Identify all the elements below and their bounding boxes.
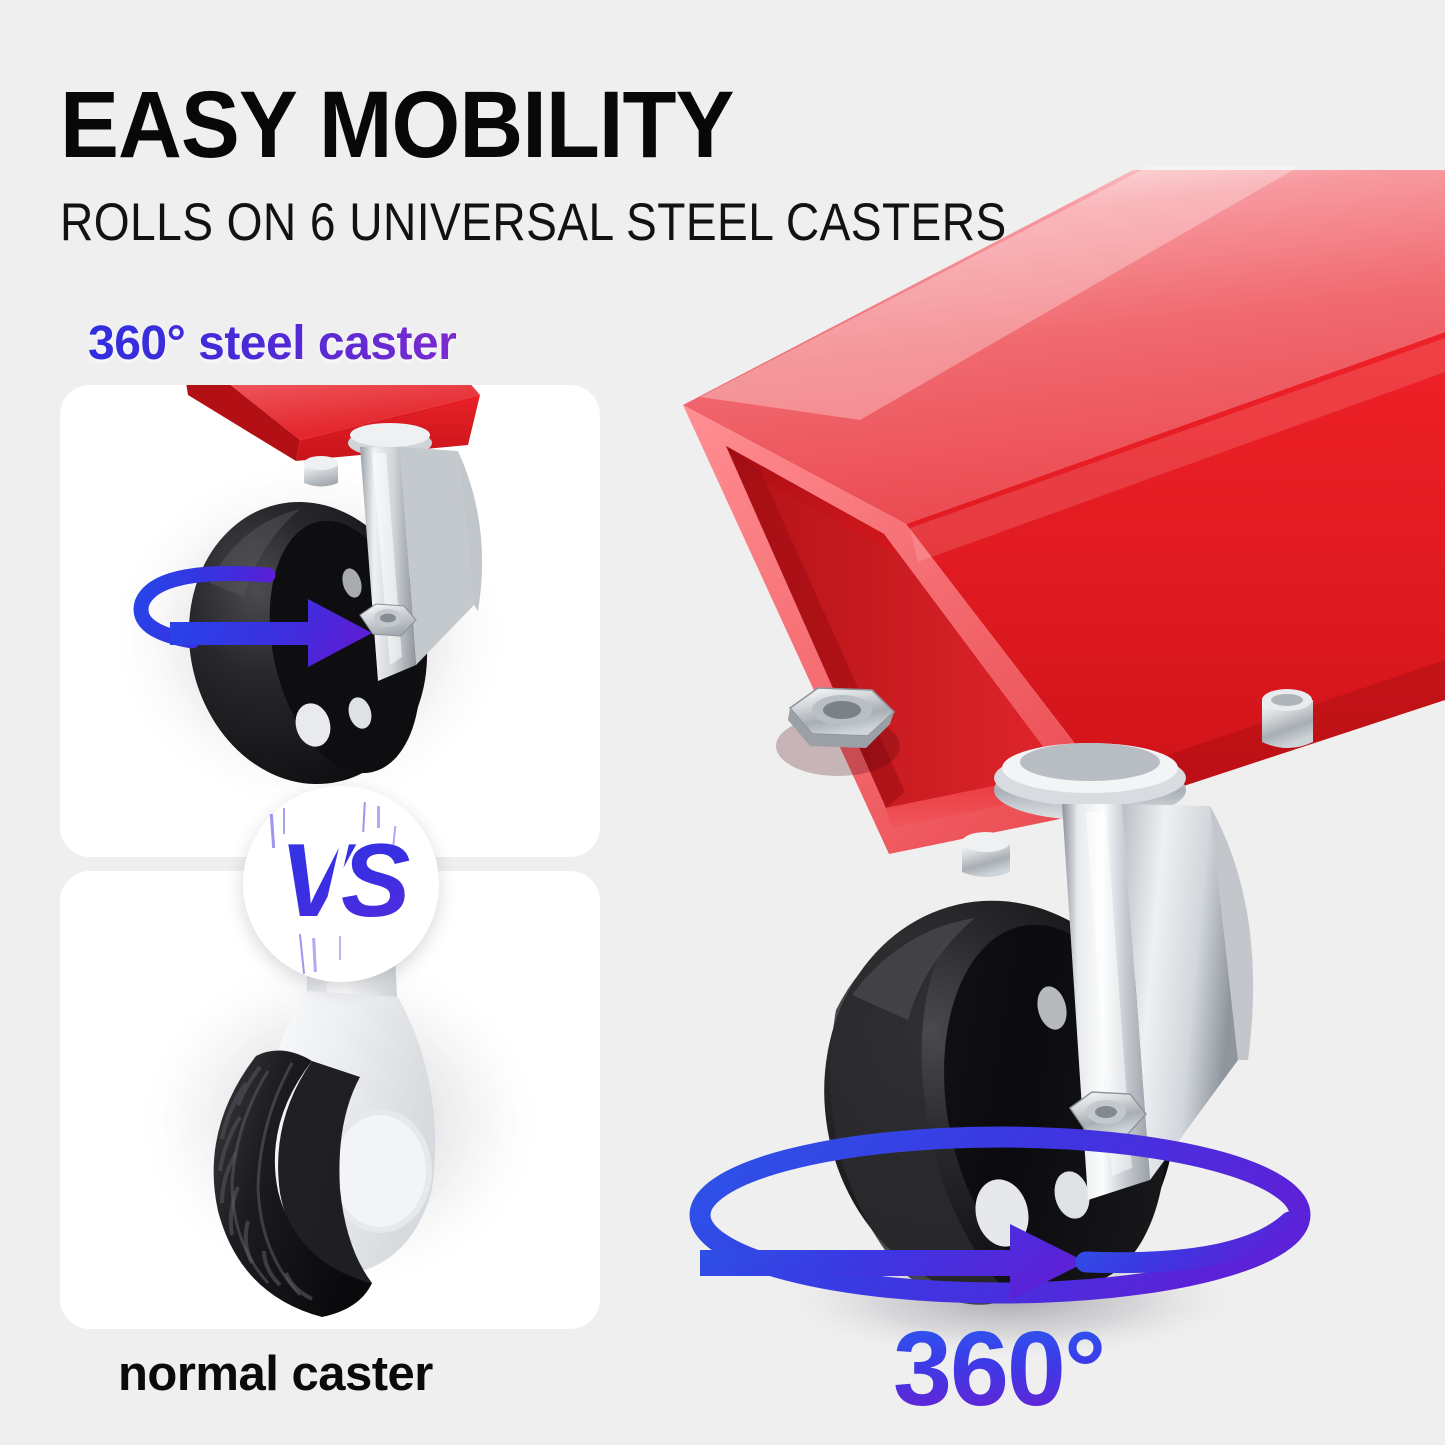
- hero-360-caption: 360°: [893, 1316, 1104, 1422]
- chrome-stud-icon: [1262, 689, 1313, 748]
- axle-stud-icon: [962, 832, 1010, 877]
- vs-streak: [339, 936, 341, 960]
- vs-streak: [283, 808, 285, 834]
- page-title: EASY MOBILITY: [60, 78, 734, 173]
- normal-caster-label: normal caster: [118, 1350, 433, 1399]
- vs-badge: VS: [243, 786, 439, 982]
- product-feature-image: EASY MOBILITY ROLLS ON 6 UNIVERSAL STEEL…: [0, 0, 1445, 1445]
- page-subtitle: ROLLS ON 6 UNIVERSAL STEEL CASTERS: [60, 196, 1007, 249]
- steel-caster-label: 360° steel caster: [88, 320, 456, 368]
- hex-nut-icon: [776, 688, 900, 776]
- vs-streak: [377, 806, 380, 828]
